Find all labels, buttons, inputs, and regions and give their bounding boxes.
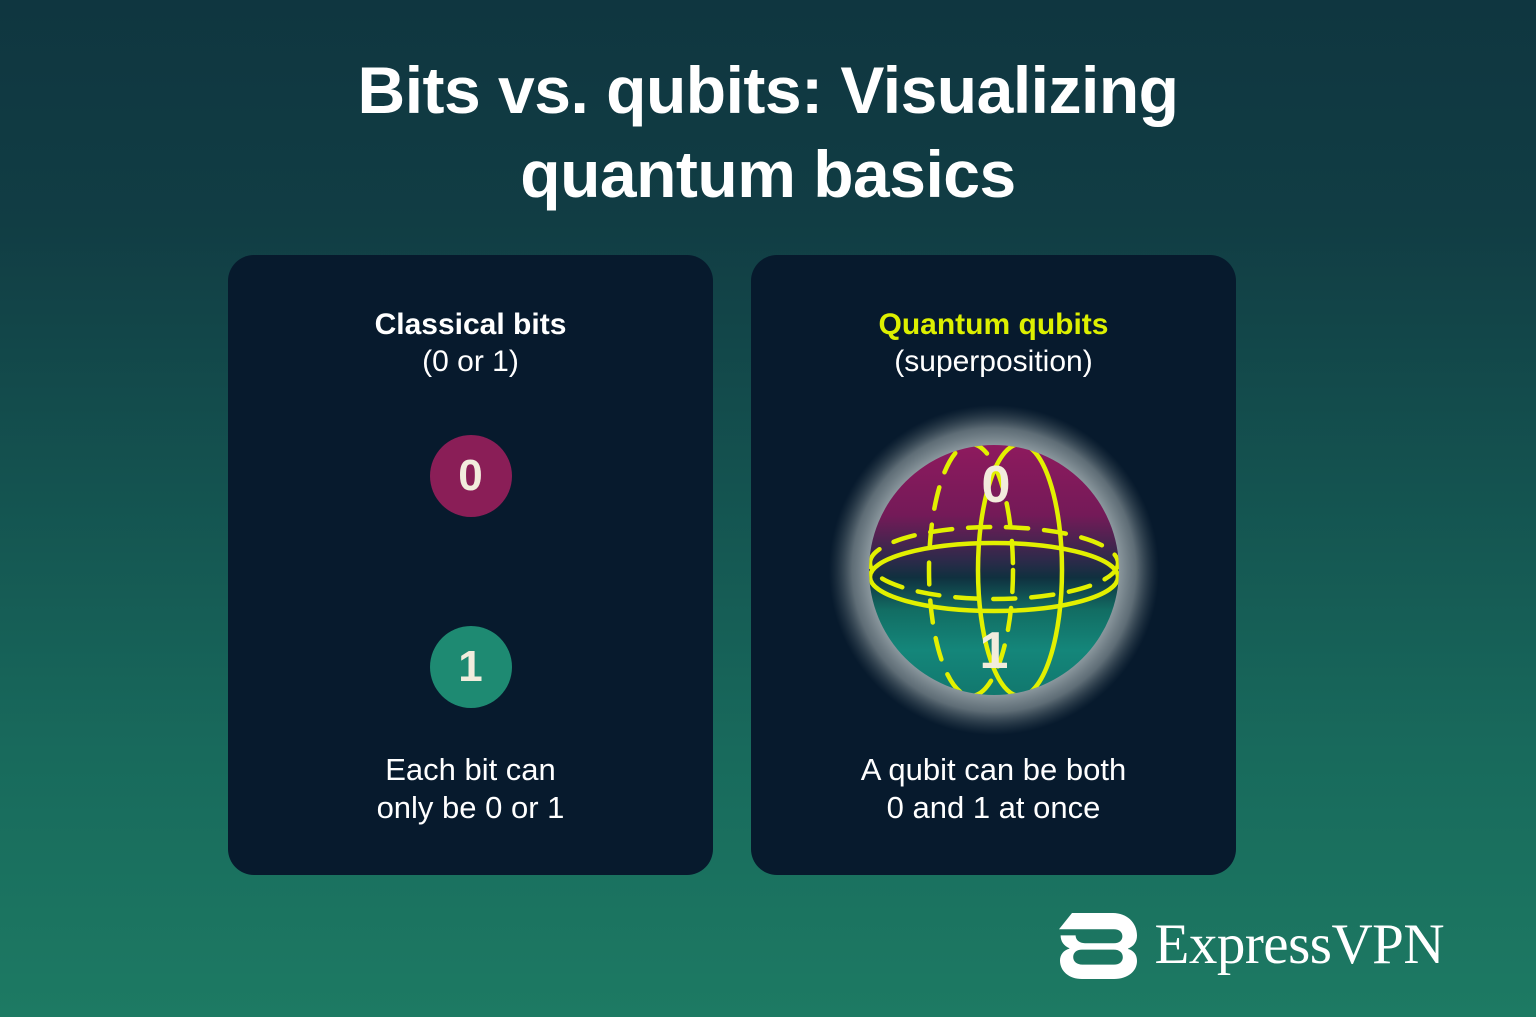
bloch-sphere: 0 1: [824, 405, 1164, 735]
classical-bits-caption-line2: only be 0 or 1: [377, 790, 565, 825]
quantum-qubits-caption: A qubit can be both 0 and 1 at once: [751, 751, 1236, 827]
quantum-qubits-heading-sub: (superposition): [879, 344, 1109, 381]
sphere-label-zero: 0: [981, 456, 1010, 514]
brand-name: ExpressVPN: [1155, 912, 1445, 977]
bit-circle-zero: 0: [430, 435, 512, 517]
quantum-qubits-heading: Quantum qubits (superposition): [879, 307, 1109, 380]
classical-bits-heading-sub: (0 or 1): [375, 344, 567, 381]
classical-bits-caption: Each bit can only be 0 or 1: [228, 751, 713, 827]
quantum-qubits-caption-line1: A qubit can be both: [861, 752, 1126, 787]
classical-bits-heading-main: Classical bits: [375, 307, 567, 344]
classical-bits-caption-line1: Each bit can: [385, 752, 556, 787]
sphere-label-one: 1: [979, 622, 1008, 680]
bit-circles: 0 1: [228, 435, 713, 765]
quantum-qubits-heading-main: Quantum qubits: [879, 307, 1109, 344]
classical-bits-heading: Classical bits (0 or 1): [375, 307, 567, 380]
card-quantum-qubits: Quantum qubits (superposition): [751, 255, 1236, 875]
expressvpn-e-mark-icon: [1059, 909, 1137, 979]
comparison-cards: Classical bits (0 or 1) 0 1 Each bit can…: [228, 255, 1236, 875]
page-title: Bits vs. qubits: Visualizing quantum bas…: [0, 48, 1536, 217]
brand-logo: ExpressVPN: [1059, 909, 1445, 979]
card-classical-bits: Classical bits (0 or 1) 0 1 Each bit can…: [228, 255, 713, 875]
bit-circle-one: 1: [430, 626, 512, 708]
bloch-sphere-graphic: 0 1: [824, 405, 1164, 735]
quantum-qubits-caption-line2: 0 and 1 at once: [887, 790, 1101, 825]
